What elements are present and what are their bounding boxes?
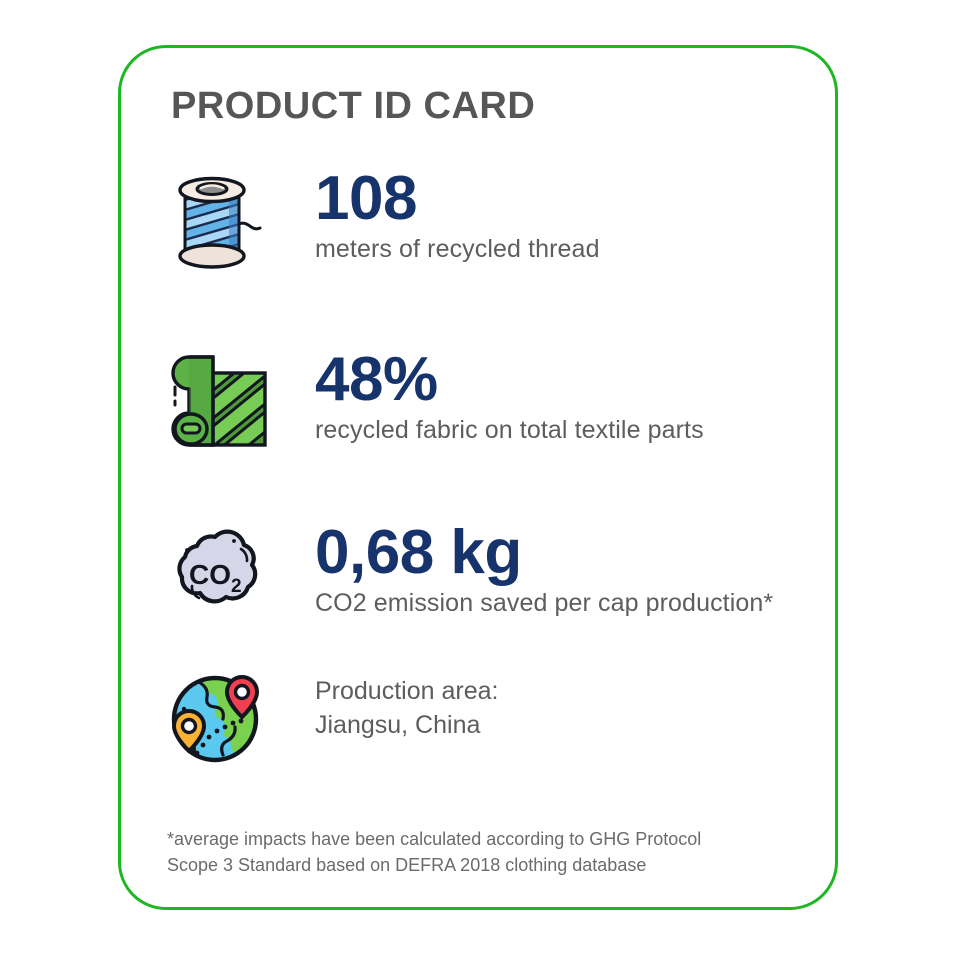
stat-row: 48% recycled fabric on total textile par…: [167, 347, 807, 462]
product-id-card: PRODUCT ID CARD: [118, 45, 838, 910]
stat-text-cell: 0,68 kg CO2 emission saved per cap produ…: [295, 520, 773, 618]
stats-list: 108 meters of recycled thread: [167, 166, 807, 772]
production-area-row: Production area: Jiangsu, China: [167, 665, 807, 772]
co2-cloud-icon: CO 2: [167, 522, 271, 631]
stat-text-cell: 48% recycled fabric on total textile par…: [295, 347, 704, 445]
thread-spool-icon: [167, 168, 271, 285]
stat-label: recycled fabric on total textile parts: [315, 416, 704, 445]
production-icon-cell: [167, 665, 295, 772]
globe-location-icon: [167, 671, 267, 772]
stat-value: 108: [315, 170, 600, 227]
production-area-text: Production area: Jiangsu, China: [295, 665, 498, 743]
stat-icon-cell: CO 2: [167, 520, 295, 631]
fabric-roll-icon: [167, 349, 273, 462]
stat-text-cell: 108 meters of recycled thread: [295, 166, 600, 264]
svg-text:CO: CO: [189, 559, 231, 590]
product-id-card-infographic: PRODUCT ID CARD: [0, 0, 960, 960]
stat-label: meters of recycled thread: [315, 235, 600, 264]
stat-icon-cell: [167, 166, 295, 285]
page-title: PRODUCT ID CARD: [171, 85, 535, 128]
footnote: *average impacts have been calculated ac…: [167, 826, 701, 878]
footnote-line-1: *average impacts have been calculated ac…: [167, 826, 701, 852]
stat-row: 108 meters of recycled thread: [167, 166, 807, 285]
production-area-value: Jiangsu, China: [315, 709, 498, 743]
svg-text:2: 2: [231, 576, 242, 597]
production-area-label: Production area:: [315, 675, 498, 709]
stat-row: CO 2 0,68 kg CO2 emission saved per cap …: [167, 520, 807, 631]
stat-value: 0,68 kg: [315, 524, 773, 581]
stat-label: CO2 emission saved per cap production*: [315, 589, 773, 618]
footnote-line-2: Scope 3 Standard based on DEFRA 2018 clo…: [167, 852, 701, 878]
stat-value: 48%: [315, 351, 704, 408]
stat-icon-cell: [167, 347, 295, 462]
